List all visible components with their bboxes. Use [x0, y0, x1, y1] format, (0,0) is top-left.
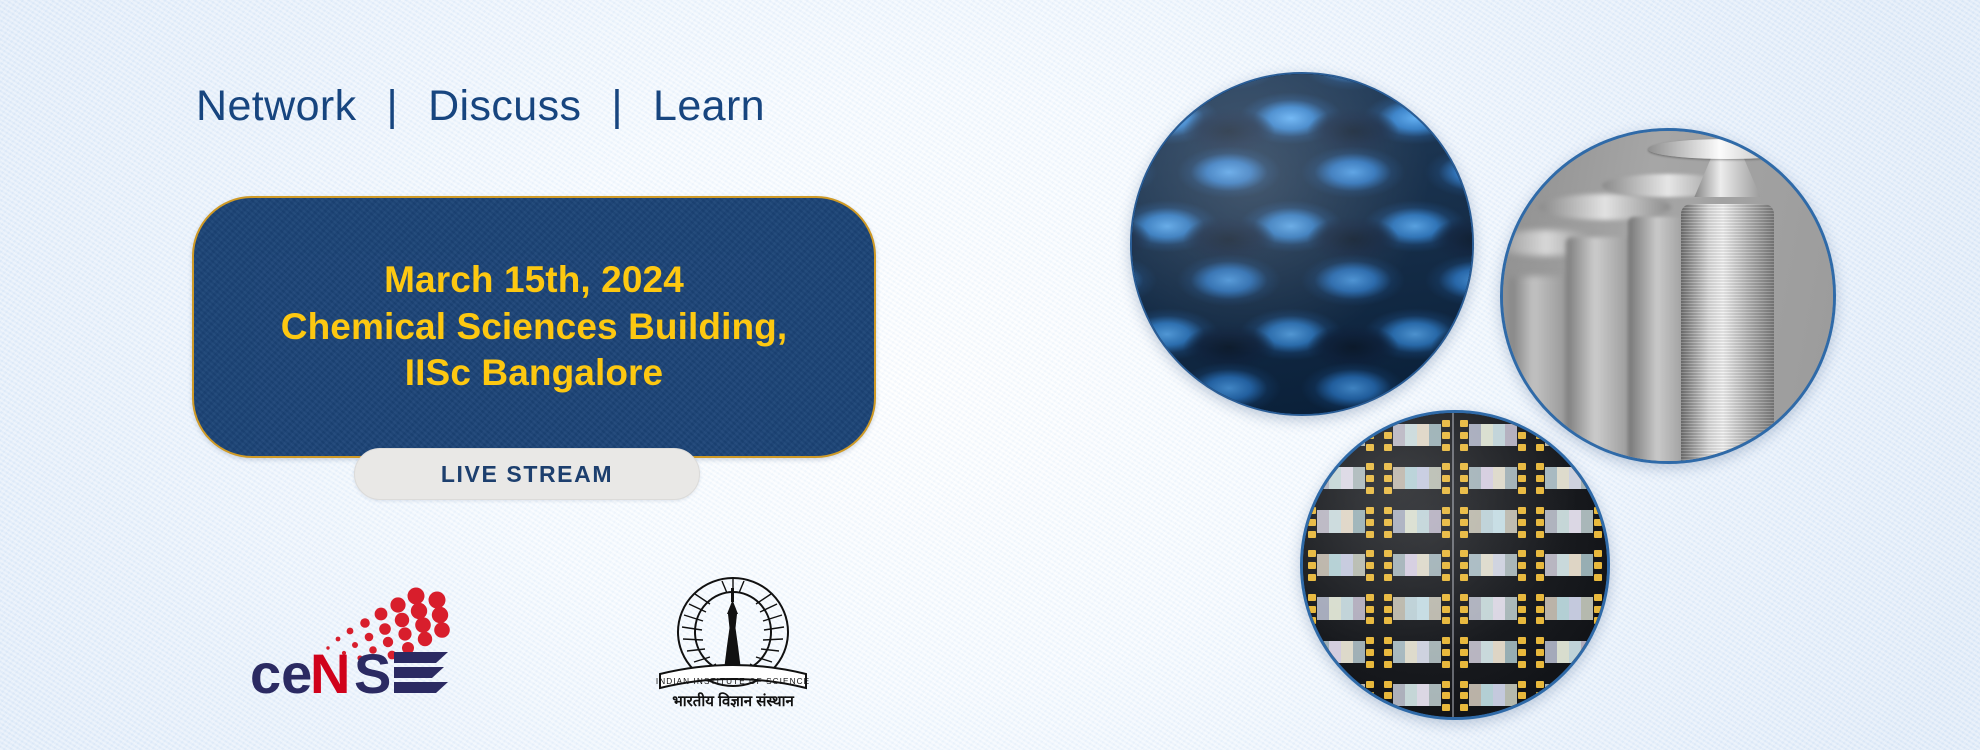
- tagline-item-learn: Learn: [653, 82, 765, 130]
- event-details-card: March 15th, 2024 Chemical Sciences Build…: [192, 196, 876, 458]
- iisc-logo[interactable]: INDIAN INSTITUTE OF SCIENCE भारतीय विज्ञ…: [648, 570, 818, 710]
- cense-e-mark: [394, 652, 448, 693]
- cense-logo[interactable]: ce N S: [248, 578, 456, 700]
- event-venue-building: Chemical Sciences Building,: [194, 304, 874, 351]
- pyramid-sheen: [1132, 74, 1472, 414]
- event-banner: Network|Discuss|Learn March 15th, 2024 C…: [0, 0, 1980, 750]
- tagline-item-network: Network: [196, 82, 357, 130]
- svg-text:S: S: [354, 642, 391, 700]
- event-date: March 15th, 2024: [194, 257, 874, 304]
- tagline-separator-1: |: [387, 82, 399, 131]
- cense-wordmark: ce N S: [250, 642, 391, 700]
- tagline-separator-2: |: [611, 82, 623, 131]
- svg-text:ce: ce: [250, 642, 312, 700]
- tagline: Network|Discuss|Learn: [196, 82, 765, 131]
- tagline-item-discuss: Discuss: [428, 82, 581, 130]
- pyramid-array-image: [1130, 72, 1474, 416]
- iisc-ribbon: INDIAN INSTITUTE OF SCIENCE: [656, 665, 810, 688]
- iisc-ribbon-text: INDIAN INSTITUTE OF SCIENCE: [656, 677, 810, 686]
- iisc-subtitle: भारतीय विज्ञान संस्थान: [672, 692, 794, 710]
- wafer-dies-image: [1300, 410, 1610, 720]
- pillar-front: [1681, 204, 1773, 464]
- live-stream-button[interactable]: LIVE STREAM: [354, 448, 700, 500]
- pillar-front-cap: [1648, 139, 1806, 159]
- wafer-gloss: [1303, 413, 1607, 717]
- svg-text:N: N: [310, 642, 350, 700]
- iisc-tower: [722, 588, 743, 673]
- event-venue-campus: IISc Bangalore: [194, 350, 874, 397]
